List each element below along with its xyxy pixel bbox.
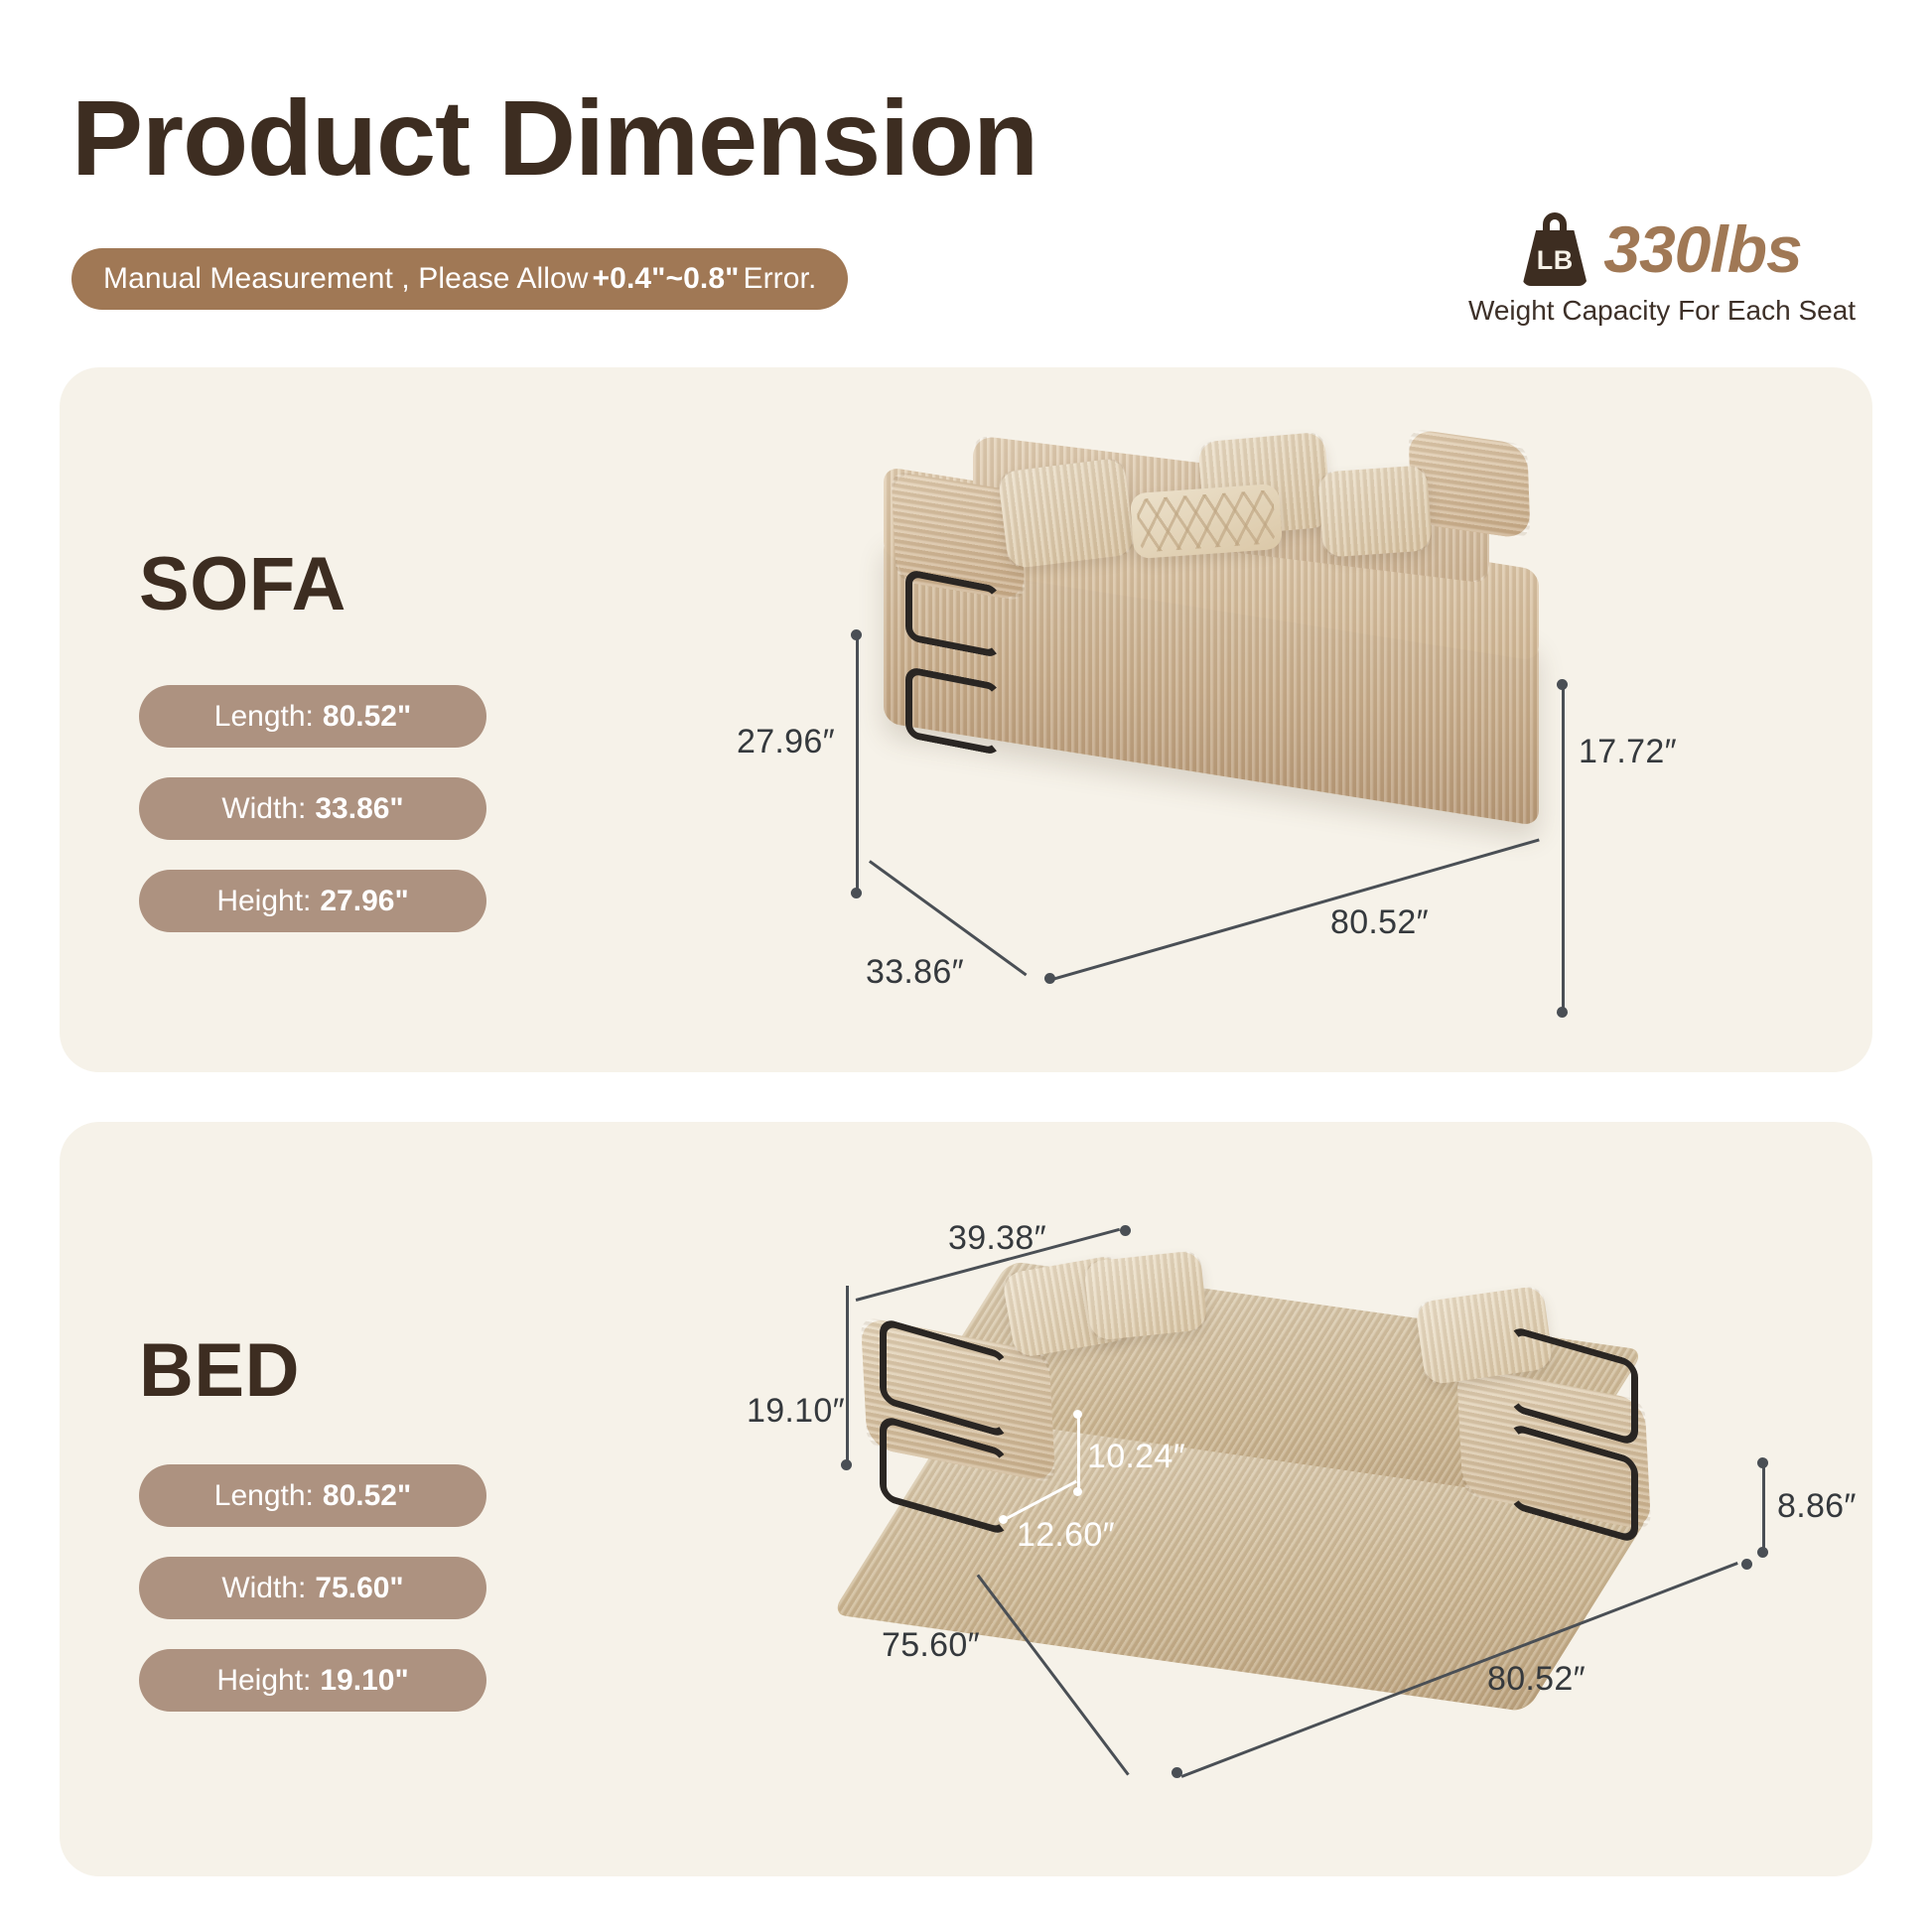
- bed-spec-length: Length: 80.52": [139, 1464, 486, 1527]
- sofa-lumbar-pillow-pattern: [1136, 489, 1276, 552]
- sofa-illustration: [854, 427, 1588, 884]
- sofa-pillow-3: [1317, 465, 1433, 557]
- sofa-pillow-1: [998, 458, 1136, 570]
- product-dimension-infographic: Product Dimension Manual Measurement , P…: [0, 0, 1932, 1932]
- measurement-note-suffix: Error.: [743, 262, 816, 296]
- sofa-spec-height-value: 27.96": [320, 885, 408, 918]
- bed-spec-height-value: 19.10": [320, 1664, 408, 1698]
- bed-spec-height-key: Height:: [216, 1664, 311, 1698]
- sofa-pillow-3-texture: [1317, 465, 1433, 557]
- bed-spec-length-value: 80.52": [323, 1479, 411, 1513]
- bed-pillow-2: [1083, 1250, 1208, 1341]
- bed-spec-width-value: 75.60": [315, 1572, 403, 1605]
- weight-icon-body: LB: [1522, 230, 1587, 286]
- header: Product Dimension Manual Measurement , P…: [0, 0, 1932, 347]
- page-title: Product Dimension: [71, 81, 1037, 194]
- measurement-note-prefix: Manual Measurement , Please Allow: [103, 262, 589, 296]
- sofa-spec-height-key: Height:: [216, 885, 311, 918]
- measurement-tolerance: +0.4"~0.8": [589, 262, 744, 296]
- bed-spec-width-key: Width:: [221, 1572, 306, 1605]
- weight-capacity-value: 330lbs: [1603, 211, 1801, 287]
- bed-spec-length-key: Length:: [214, 1479, 314, 1513]
- sofa-spec-length: Length: 80.52": [139, 685, 486, 748]
- sofa-spec-length-key: Length:: [214, 700, 314, 734]
- bed-spec-width: Width: 75.60": [139, 1557, 486, 1619]
- sofa-spec-length-value: 80.52": [323, 700, 411, 734]
- sofa-spec-width: Width: 33.86": [139, 777, 486, 840]
- weight-capacity-caption: Weight Capacity For Each Seat: [1463, 295, 1861, 327]
- sofa-section-title: SOFA: [139, 541, 346, 627]
- weight-plate-icon: LB: [1522, 212, 1587, 286]
- bed-section-title: BED: [139, 1327, 300, 1414]
- bed-illustration: [824, 1216, 1718, 1772]
- bed-pillow-2-texture: [1083, 1250, 1208, 1341]
- measurement-note-pill: Manual Measurement , Please Allow +0.4"~…: [71, 248, 848, 310]
- sofa-pillow-1-texture: [998, 458, 1136, 570]
- weight-icon-label: LB: [1537, 245, 1574, 276]
- bed-spec-height: Height: 19.10": [139, 1649, 486, 1712]
- sofa-spec-width-key: Width:: [221, 792, 306, 826]
- weight-capacity-row: LB 330lbs: [1463, 204, 1861, 295]
- sofa-spec-height: Height: 27.96": [139, 870, 486, 932]
- weight-capacity-badge: LB 330lbs Weight Capacity For Each Seat: [1463, 204, 1861, 333]
- sofa-lumbar-pillow: [1130, 483, 1283, 559]
- sofa-spec-width-value: 33.86": [315, 792, 403, 826]
